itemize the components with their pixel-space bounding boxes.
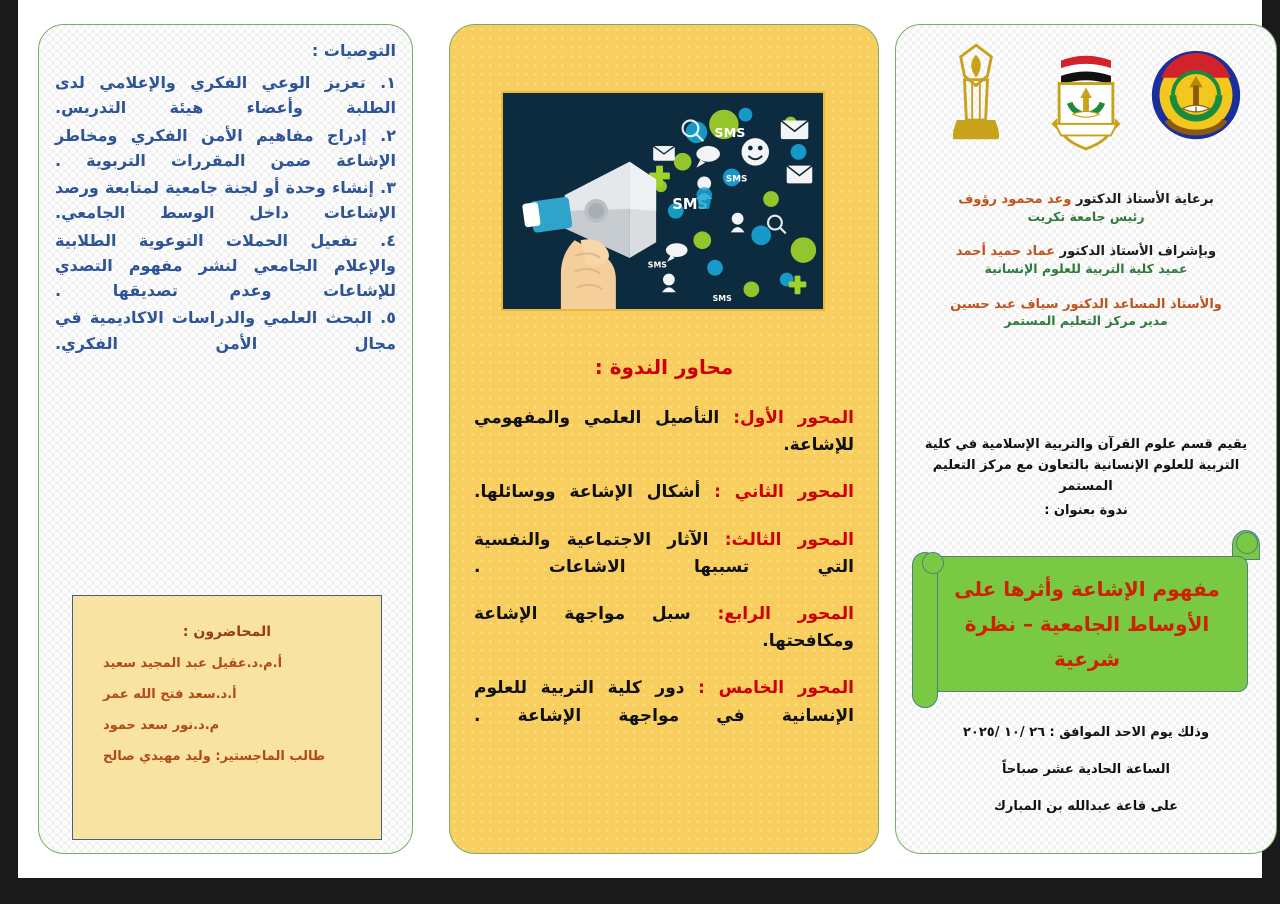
sponsorship-section: برعاية الأستاذ الدكتور وعد محمود رؤوف رئ…: [906, 191, 1266, 348]
sponsor-block: والأستاذ المساعد الدكتور سياف عبد حسين م…: [906, 296, 1266, 330]
tikrit-university-logo: [1148, 38, 1244, 156]
megaphone-illustration: SMS SMS SMS SMS SMS: [501, 91, 825, 311]
page-sheet: التوصيات : ١. تعزيز الوعي الفكري والإعلا…: [18, 0, 1262, 878]
lecturer-name: أ.د.سعد فتح الله عمر: [103, 687, 351, 702]
middle-panel: SMS SMS SMS SMS SMS: [449, 24, 879, 854]
recommendation-item: ٤. تفعيل الحملات التوعوية الطلابية والإع…: [55, 228, 396, 304]
lecturer-name: طالب الماجستير: وليد مهيدي صالح: [103, 749, 351, 764]
sponsor-prefix-and-name: والأستاذ المساعد الدكتور: [1059, 297, 1222, 312]
lecturers-title: المحاضرون :: [103, 624, 351, 640]
sponsor-role: عميد كلية التربية للعلوم الإنسانية: [906, 261, 1266, 278]
axis-label: المحور الأول:: [733, 408, 854, 428]
recommendations-title: التوصيات :: [55, 39, 396, 63]
lecturers-box: المحاضرون : أ.م.د.عقيل عبد المجيد سعيد أ…: [72, 595, 382, 840]
lecturer-name: م.د.نور سعد حمود: [103, 718, 351, 733]
axis-label: المحور الثاني :: [714, 482, 854, 502]
recommendation-item: ١. تعزيز الوعي الفكري والإعلامي لدى الطل…: [55, 70, 396, 121]
recommendation-item: ٥. البحث العلمي والدراسات الاكاديمية في …: [55, 305, 396, 356]
svg-text:SMS: SMS: [648, 261, 667, 270]
seminar-axes-section: محاور الندوة : المحور الأول: التأصيل الع…: [474, 355, 854, 750]
banner-scroll-roll-left: [912, 552, 938, 708]
axis-label: المحور الثالث:: [725, 530, 854, 550]
svg-text:SMS: SMS: [714, 126, 745, 141]
axis-label: المحور الرابع:: [718, 604, 855, 624]
brochure-page: التوصيات : ١. تعزيز الوعي الفكري والإعلا…: [0, 0, 1280, 904]
sponsor-name: سياف عبد حسين: [950, 297, 1058, 312]
recommendation-item: ٢. إدراج مفاهيم الأمن الفكري ومخاطر الإش…: [55, 123, 396, 174]
axis-label: المحور الخامس :: [698, 678, 854, 698]
right-panel: برعاية الأستاذ الدكتور وعد محمود رؤوف رئ…: [895, 24, 1277, 854]
sponsor-role: رئيس جامعة تكريت: [906, 209, 1266, 226]
sponsor-block: وبإشراف الأستاذ الدكتور عماد حميد أحمد ع…: [906, 243, 1266, 277]
seminar-label: ندوة بعنوان :: [896, 503, 1276, 518]
banner-scroll-curl-left: [922, 552, 944, 574]
banner-scroll-curl-right: [1236, 532, 1258, 554]
organizer-text: يقيم قسم علوم القرآن والتربية الإسلامية …: [914, 435, 1258, 497]
axis-item: المحور الخامس : دور كلية التربية للعلوم …: [474, 675, 854, 729]
axis-item: المحور الأول: التأصيل العلمي والمفهومي ل…: [474, 405, 854, 459]
left-panel: التوصيات : ١. تعزيز الوعي الفكري والإعلا…: [38, 24, 413, 854]
axis-item: المحور الثاني : أشكال الإشاعة ووسائلها.: [474, 479, 854, 506]
axes-title: محاور الندوة :: [474, 355, 854, 379]
event-details-section: وذلك يوم الاحد الموافق : ٢٦ /١٠ /٢٠٢٥ ال…: [904, 725, 1268, 836]
axis-item: المحور الرابع: سبل مواجهة الإشاعة ومكافح…: [474, 601, 854, 655]
banner-body: مفهوم الإشاعة وأثرها على الأوساط الجامعي…: [926, 556, 1248, 692]
sponsor-role: مدير مركز التعليم المستمر: [906, 313, 1266, 330]
logos-row: [896, 33, 1276, 161]
ministry-higher-education-logo: [1038, 38, 1134, 156]
recommendation-item: ٣. إنشاء وحدة أو لجنة جامعية لمتابعة ورص…: [55, 175, 396, 226]
event-time: الساعة الحادية عشر صباحاً: [904, 762, 1268, 777]
seminar-title-banner: مفهوم الإشاعة وأثرها على الأوساط الجامعي…: [908, 530, 1266, 715]
axis-text: أشكال الإشاعة ووسائلها.: [474, 482, 714, 502]
continuing-education-center-logo: [928, 38, 1024, 156]
svg-text:SMS: SMS: [713, 294, 732, 303]
sponsor-name: عماد حميد أحمد: [956, 244, 1055, 259]
event-date: وذلك يوم الاحد الموافق : ٢٦ /١٠ /٢٠٢٥: [904, 725, 1268, 740]
banner-title-text: مفهوم الإشاعة وأثرها على الأوساط الجامعي…: [927, 572, 1247, 677]
sponsor-prefix: وبإشراف الأستاذ الدكتور: [1055, 244, 1216, 259]
svg-text:SMS: SMS: [726, 174, 748, 184]
sponsor-block: برعاية الأستاذ الدكتور وعد محمود رؤوف رئ…: [906, 191, 1266, 225]
sponsor-name: وعد محمود رؤوف: [958, 192, 1071, 207]
recommendations-section: التوصيات : ١. تعزيز الوعي الفكري والإعلا…: [55, 39, 396, 358]
axis-item: المحور الثالث: الآثار الاجتماعية والنفسي…: [474, 527, 854, 581]
lecturer-name: أ.م.د.عقيل عبد المجيد سعيد: [103, 656, 351, 671]
event-venue: على قاعة عبدالله بن المبارك: [904, 799, 1268, 814]
sponsor-prefix: برعاية الأستاذ الدكتور: [1072, 192, 1214, 207]
